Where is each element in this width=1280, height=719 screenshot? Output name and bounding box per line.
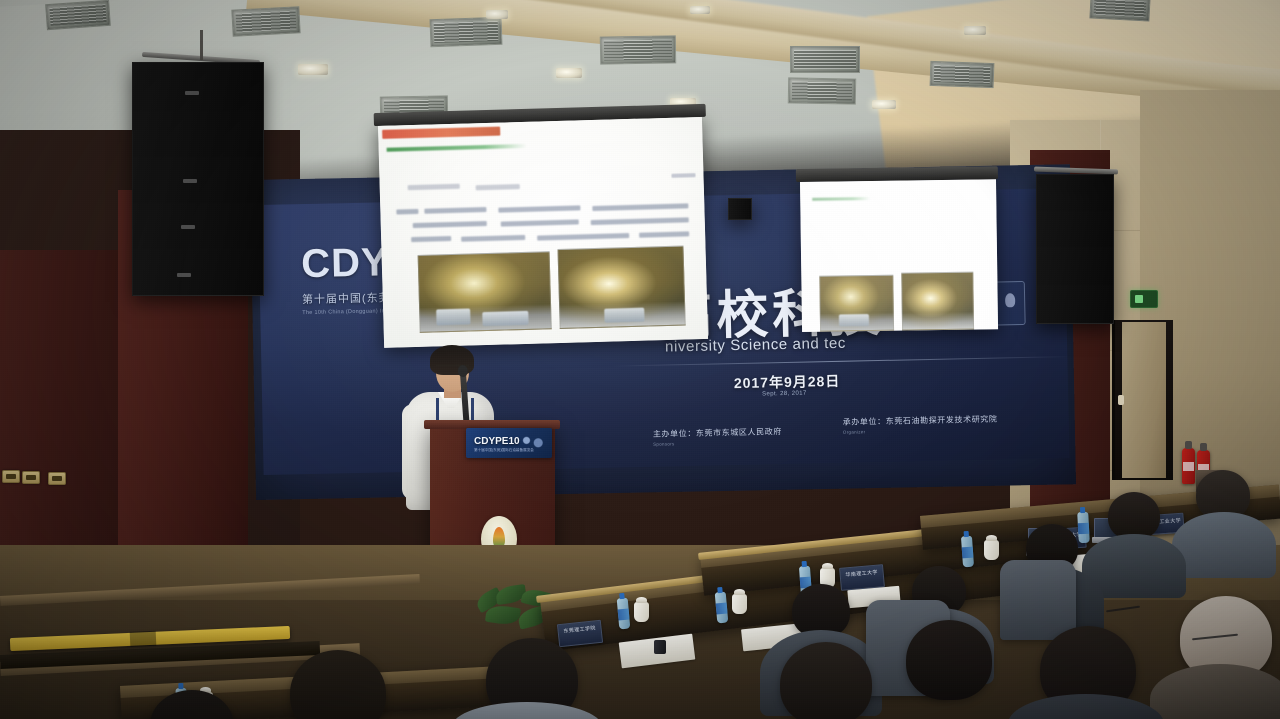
air-vent (1089, 0, 1150, 22)
slide-photo (418, 251, 552, 333)
banner-sponsor-cn: 主办单位：东莞市东城区人民政府 (653, 426, 782, 440)
speaker-box (133, 111, 263, 158)
photo-vehicle (436, 308, 470, 325)
air-vent (790, 46, 860, 73)
banner-seal-icon (995, 281, 1026, 326)
speaker-box (1037, 211, 1113, 248)
slide-text-line (396, 209, 418, 215)
screen-surface (800, 179, 998, 332)
teacup (732, 594, 747, 614)
placard-line1: 东莞理工学院 (558, 625, 601, 637)
speaker-brand-badge (183, 179, 197, 183)
water-bottle (961, 536, 974, 568)
air-vent (930, 61, 995, 88)
slide-page-number (671, 173, 695, 178)
speaker-brand-badge (185, 91, 199, 95)
podium-sign-subtitle: 第十届中国(东莞)国际石油装备展览会 (474, 448, 534, 453)
dark-mug (654, 640, 666, 654)
banner-organizer-en: Organizer (843, 427, 998, 435)
banner-sponsor: 主办单位：东莞市东城区人民政府 Sponsors (653, 426, 782, 447)
photo-vehicle (839, 314, 869, 326)
door-handle[interactable] (1118, 395, 1124, 405)
photo-vehicle (482, 311, 528, 326)
ceiling-light (872, 100, 896, 109)
banner-date-en: Sept. 28, 2017 (762, 391, 807, 398)
air-vent (788, 77, 856, 104)
teacup (984, 540, 999, 560)
audience-shoulders (1172, 512, 1276, 578)
conference-hall-photo: CDYP 第十届中国(东莞)国际 The 10th China (Donggua… (0, 0, 1280, 719)
air-vent (45, 0, 111, 30)
banner-date-cn: 2017年9月28日 (734, 371, 841, 393)
right-speaker-array (1036, 174, 1114, 324)
name-placard: 东莞理工学院 (557, 620, 603, 647)
air-vent (600, 35, 676, 64)
ceiling-light (556, 68, 582, 78)
slide-photo (819, 275, 894, 332)
teacup (634, 602, 649, 622)
water-bottle (1077, 512, 1090, 544)
fire-extinguisher (1182, 448, 1195, 484)
speaker-box (1037, 175, 1113, 212)
ceiling-light (964, 26, 986, 35)
door[interactable] (1122, 322, 1166, 478)
speaker-box (133, 249, 263, 296)
audience-head (906, 620, 992, 700)
air-vent (430, 17, 503, 47)
banner-organizer: 承办单位：东莞石油勘探开发技术研究院 Organizer (843, 414, 998, 435)
wall-outlet[interactable] (48, 472, 66, 485)
speaker-brand-badge (177, 273, 191, 277)
ceiling-speaker-small (728, 198, 752, 220)
speaker-box (1037, 285, 1113, 324)
speaker-box (133, 63, 263, 112)
ceiling-light (690, 6, 710, 14)
slide-photo (901, 272, 974, 331)
speaker-box (133, 203, 263, 250)
photo-vehicle (604, 308, 644, 323)
ceiling-light (486, 10, 508, 19)
speaker-rigging-rod (200, 30, 203, 60)
audience-head (780, 642, 872, 719)
exit-sign (1130, 290, 1158, 308)
banner-divider (611, 356, 1069, 367)
air-vent (231, 6, 300, 37)
podium-sign-text: CDYPE10 (474, 436, 520, 447)
audience-head (1108, 492, 1160, 540)
banner-organizer-cn: 承办单位：东莞石油勘探开发技术研究院 (843, 414, 998, 428)
screen-surface (378, 117, 708, 348)
podium-sign: CDYPE10 第十届中国(东莞)国际石油装备展览会 (466, 428, 552, 458)
banner-sponsor-en: Sponsors (653, 439, 782, 447)
speaker-box (1037, 247, 1113, 286)
speaker-brand-badge (181, 225, 195, 229)
speaker-box (133, 157, 263, 204)
ceiling-light (298, 64, 328, 75)
wall-outlet[interactable] (2, 470, 20, 483)
slide-photo (558, 246, 686, 329)
placard-line1: 华南理工大学 (841, 569, 883, 580)
left-speaker-array (132, 62, 264, 296)
chair-back (1000, 560, 1076, 640)
wall-outlet[interactable] (22, 471, 40, 484)
